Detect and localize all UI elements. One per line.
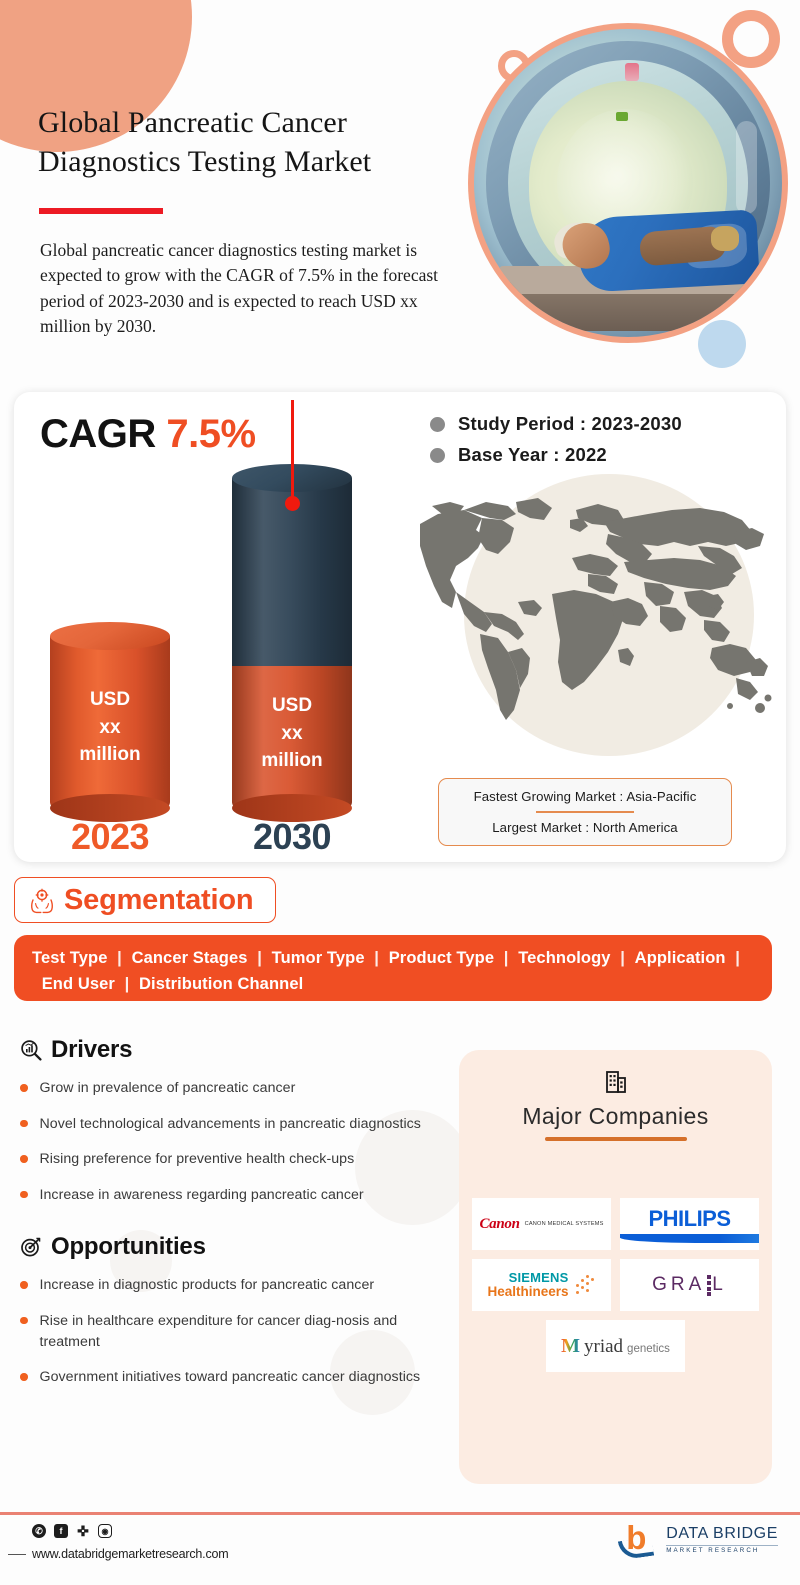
bar-chart: USDxxmillion 2023 USDxxmillion 2030 — [14, 392, 412, 862]
driver-item: Novel technological advancements in panc… — [20, 1114, 460, 1135]
philips-wordmark: PHILIPS — [620, 1206, 759, 1232]
header-section: Global Pancreatic Cancer Diagnostics Tes… — [0, 0, 800, 380]
myriad-initial: M — [561, 1335, 580, 1358]
logo-canon: Canon CANON MEDICAL SYSTEMS — [472, 1198, 611, 1250]
logo-siemens-healthineers: SIEMENS Healthineers — [472, 1259, 611, 1311]
segmentation-item: Test Type — [32, 949, 107, 967]
ct-scanner-image — [474, 29, 782, 337]
opportunity-item: Increase in diagnostic products for panc… — [20, 1275, 460, 1296]
website-url[interactable]: www.databridgemarketresearch.com — [32, 1547, 228, 1561]
segmentation-item: Technology — [518, 949, 610, 967]
opportunity-item: Government initiatives toward pancreatic… — [20, 1367, 460, 1388]
bullet-dot-icon — [20, 1191, 28, 1199]
bar-2023: USDxxmillion — [50, 636, 170, 808]
bullet-dot-icon — [20, 1155, 28, 1163]
bullet-dot-icon — [20, 1281, 28, 1289]
opportunity-item: Rise in healthcare expenditure for cance… — [20, 1311, 460, 1352]
drivers-title: Drivers — [51, 1036, 132, 1064]
bullet-dot-icon — [20, 1317, 28, 1325]
databridge-logo: b DATA BRIDGE MARKET RESEARCH — [619, 1521, 778, 1559]
segmentation-item: Tumor Type — [272, 949, 365, 967]
page-description: Global pancreatic cancer diagnostics tes… — [40, 238, 440, 340]
bullet-dot-icon — [20, 1373, 28, 1381]
brand-mark-icon: b — [619, 1521, 659, 1559]
drivers-list: Grow in prevalence of pancreatic cancerN… — [20, 1078, 460, 1205]
driver-item: Grow in prevalence of pancreatic cancer — [20, 1078, 460, 1099]
magnifier-chart-icon — [20, 1039, 42, 1061]
driver-item-text: Increase in awareness regarding pancreat… — [40, 1185, 364, 1206]
study-period-row: Study Period : 2023-2030 — [430, 413, 682, 435]
major-companies-panel: Major Companies Canon CANON MEDICAL SYST… — [459, 1050, 772, 1484]
segmentation-separator: | — [494, 949, 518, 967]
bar-2030: USDxxmillion — [232, 478, 352, 808]
bullet-dot-icon — [430, 448, 445, 463]
market-box-divider — [536, 811, 634, 813]
driver-item-text: Grow in prevalence of pancreatic cancer — [40, 1078, 296, 1099]
philips-swoosh-icon — [620, 1234, 759, 1243]
bar-2023-value: USDxxmillion — [50, 686, 170, 769]
canon-wordmark: Canon — [479, 1216, 519, 1233]
bullet-dot-icon — [20, 1120, 28, 1128]
fastest-growing-market: Fastest Growing Market : Asia-Pacific — [474, 789, 697, 804]
myriad-wordmark: yriad — [584, 1336, 623, 1358]
segmentation-items-bar: Test Type | Cancer Stages | Tumor Type |… — [14, 935, 772, 1001]
logo-myriad-genetics: M yriad genetics — [546, 1320, 685, 1372]
segmentation-title: Segmentation — [64, 884, 253, 917]
opportunities-header: Opportunities — [20, 1233, 460, 1261]
building-icon — [603, 1067, 629, 1095]
opportunity-item-text: Government initiatives toward pancreatic… — [40, 1367, 421, 1388]
bar-2023-year: 2023 — [50, 816, 170, 858]
whatsapp-icon[interactable]: ✆ — [32, 1524, 46, 1538]
brand-name: DATA BRIDGE — [666, 1525, 778, 1543]
pointer-dot — [285, 496, 300, 511]
world-map-svg — [412, 462, 786, 762]
companies-underline — [545, 1137, 687, 1141]
largest-market: Largest Market : North America — [492, 820, 678, 835]
canon-subtext: CANON MEDICAL SYSTEMS — [525, 1221, 604, 1227]
opportunity-item-text: Rise in healthcare expenditure for cance… — [40, 1311, 461, 1352]
logo-grail: GRAL — [620, 1259, 759, 1311]
segmentation-separator: | — [248, 949, 272, 967]
twitter-icon[interactable]: ✜ — [76, 1524, 90, 1538]
bar-2030-year: 2030 — [232, 816, 352, 858]
companies-title: Major Companies — [459, 1103, 772, 1130]
title-underline — [39, 208, 163, 214]
segmentation-item: Product Type — [389, 949, 494, 967]
infographic-page: Global Pancreatic Cancer Diagnostics Tes… — [0, 0, 800, 1585]
driver-item-text: Rising preference for preventive health … — [40, 1149, 355, 1170]
siemens-wordmark: SIEMENS — [487, 1271, 568, 1285]
segmentation-separator: | — [115, 975, 139, 993]
facebook-icon[interactable]: f — [54, 1524, 68, 1538]
driver-item-text: Novel technological advancements in panc… — [40, 1114, 421, 1135]
bullet-dot-icon — [430, 417, 445, 432]
segmentation-item: Distribution Channel — [139, 975, 303, 993]
market-info-box: Fastest Growing Market : Asia-Pacific La… — [438, 778, 732, 846]
study-period-text: Study Period : 2023-2030 — [458, 413, 682, 435]
segmentation-item: Application — [635, 949, 726, 967]
driver-item: Increase in awareness regarding pancreat… — [20, 1185, 460, 1206]
segmentation-items: Test Type | Cancer Stages | Tumor Type |… — [32, 949, 740, 993]
opportunities-title: Opportunities — [51, 1233, 206, 1261]
instagram-icon[interactable]: ◉ — [98, 1524, 112, 1538]
grail-wordmark: GRAL — [652, 1274, 727, 1296]
siemens-dots-icon — [574, 1274, 596, 1296]
opportunities-block: Opportunities Increase in diagnostic pro… — [20, 1233, 460, 1387]
opportunity-item-text: Increase in diagnostic products for panc… — [40, 1275, 375, 1296]
segmentation-separator: | — [365, 949, 389, 967]
world-map — [412, 462, 786, 762]
pointer-line — [291, 400, 294, 502]
target-arrow-icon — [20, 1236, 42, 1258]
healthineers-wordmark: Healthineers — [487, 1285, 568, 1299]
hero-image-frame — [468, 23, 788, 343]
drivers-header: Drivers — [20, 1036, 460, 1064]
segmentation-item: Cancer Stages — [132, 949, 248, 967]
url-dash — [8, 1554, 26, 1555]
footer-divider — [0, 1512, 800, 1515]
driver-item: Rising preference for preventive health … — [20, 1149, 460, 1170]
opportunities-list: Increase in diagnostic products for panc… — [20, 1275, 460, 1387]
logo-philips: PHILIPS — [620, 1198, 759, 1250]
bullet-dot-icon — [20, 1084, 28, 1092]
segmentation-separator: | — [107, 949, 131, 967]
hands-holding-circle-icon — [29, 886, 55, 914]
bar-2030-value: USDxxmillion — [232, 692, 352, 775]
segmentation-badge: Segmentation — [14, 877, 276, 923]
myriad-subtext: genetics — [627, 1343, 670, 1355]
insights-column: Drivers Grow in prevalence of pancreatic… — [20, 1036, 460, 1403]
brand-tagline: MARKET RESEARCH — [666, 1545, 778, 1555]
companies-header: Major Companies — [459, 1050, 772, 1141]
social-links: ✆ f ✜ ◉ — [32, 1524, 112, 1538]
segmentation-item: End User — [42, 975, 115, 993]
company-logo-grid: Canon CANON MEDICAL SYSTEMS PHILIPS SIEM… — [472, 1198, 759, 1372]
segmentation-separator: | — [611, 949, 635, 967]
page-title: Global Pancreatic Cancer Diagnostics Tes… — [38, 103, 458, 181]
